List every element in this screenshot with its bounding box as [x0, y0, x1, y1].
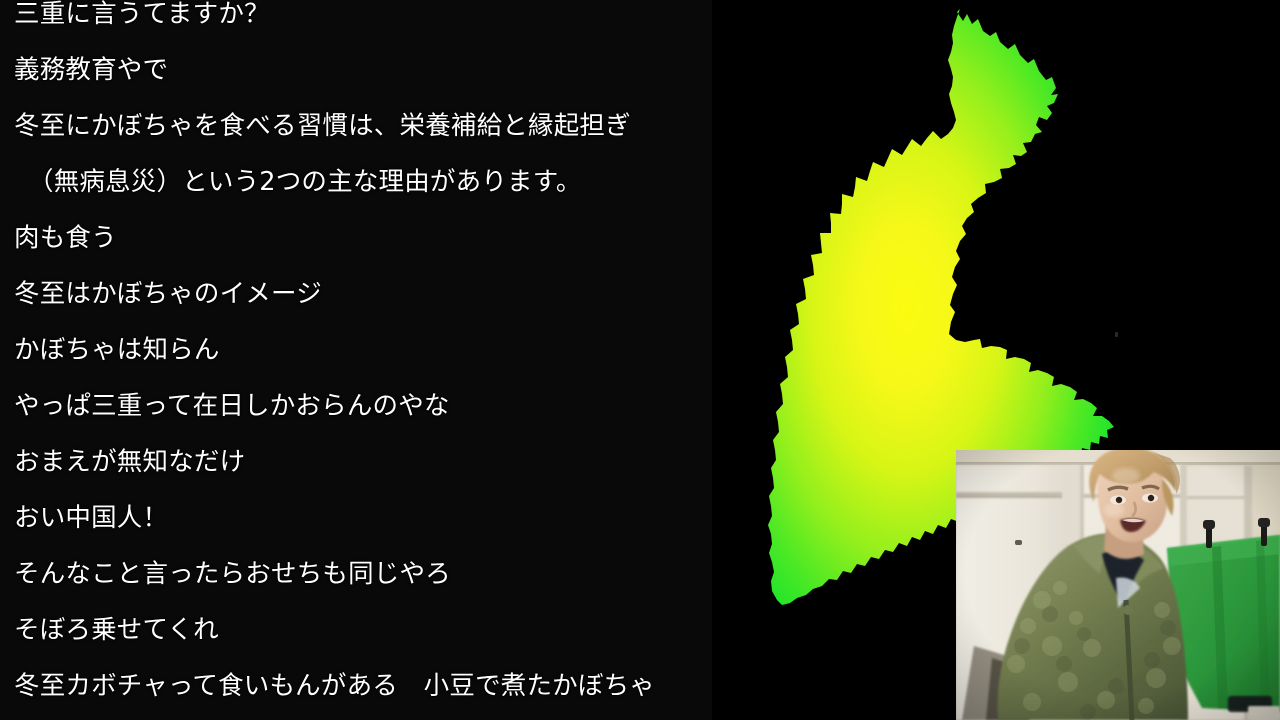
list-item: 冬至はかぼちゃのイメージ	[14, 266, 694, 322]
list-item: おまえが無知なだけ	[14, 434, 694, 490]
list-item: 三重に言うてますか？	[14, 0, 694, 42]
list-item: やっぱ三重って在日しかおらんのやな	[14, 378, 694, 434]
map-artifact-speck	[1115, 332, 1118, 337]
list-item: 冬至にかぼちゃを食べる習慣は、栄養補給と縁起担ぎ	[14, 98, 694, 154]
list-item: おい中国人！	[14, 490, 694, 546]
list-item: や	[14, 714, 694, 720]
list-item: 義務教育やで	[14, 42, 694, 98]
webcam-frame	[956, 450, 1280, 720]
stream-viewport: 三重に言うてますか？ 義務教育やで 冬至にかぼちゃを食べる習慣は、栄養補給と縁起…	[0, 0, 1280, 720]
list-item: そんなこと言ったらおせちも同じやろ	[14, 546, 694, 602]
list-item: そぼろ乗せてくれ	[14, 602, 694, 658]
list-item: （無病息災）という2つの主な理由があります。	[14, 154, 694, 210]
list-item: 冬至カボチャって食いもんがある 小豆で煮たかぼちゃ	[14, 658, 694, 714]
webcam-scene	[956, 450, 1280, 720]
comment-list: 三重に言うてますか？ 義務教育やで 冬至にかぼちゃを食べる習慣は、栄養補給と縁起…	[0, 0, 712, 720]
comment-panel[interactable]: 三重に言うてますか？ 義務教育やで 冬至にかぼちゃを食べる習慣は、栄養補給と縁起…	[0, 0, 712, 720]
list-item: かぼちゃは知らん	[14, 322, 694, 378]
streamer-webcam-inset[interactable]	[956, 450, 1280, 720]
list-item: 肉も食う	[14, 210, 694, 266]
